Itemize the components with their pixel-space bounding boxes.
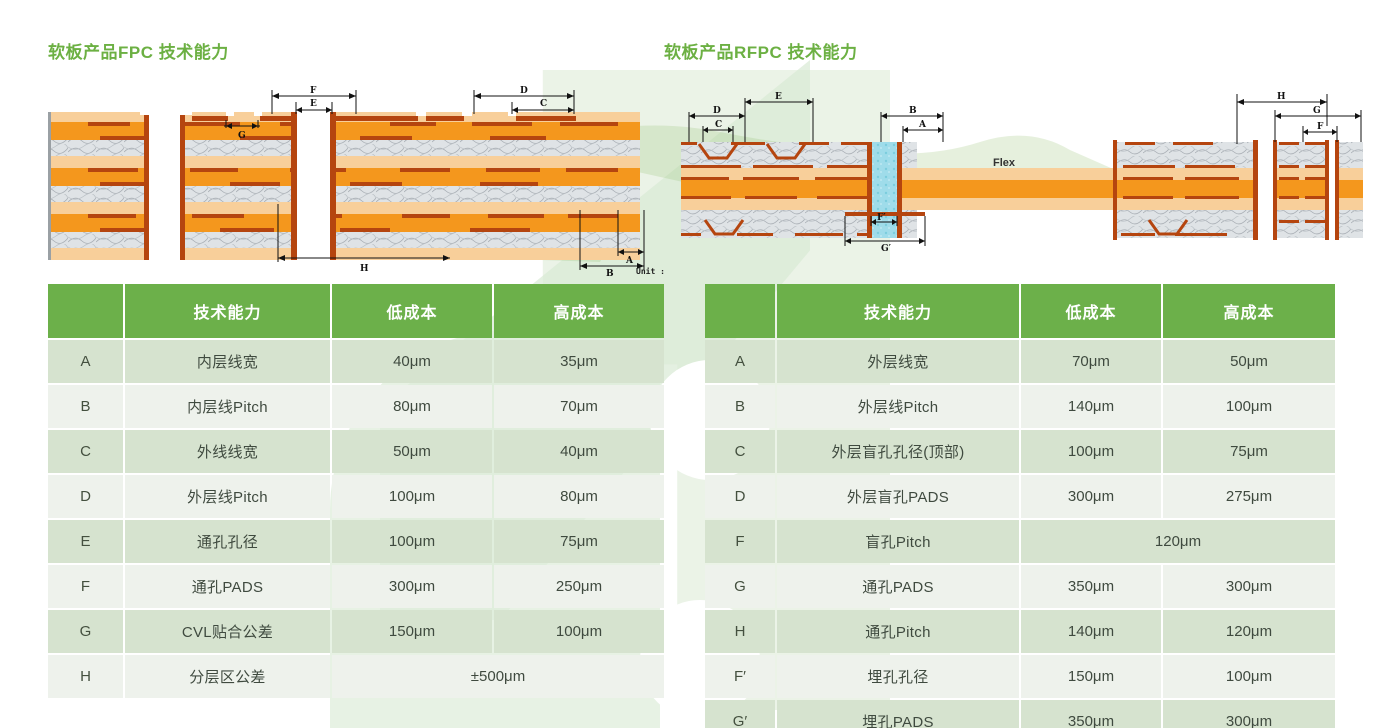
dim-label-b-right: B xyxy=(909,106,917,116)
table-header-row: 技术能力 低成本 高成本 xyxy=(48,284,664,338)
cell-low-cost: 350μm xyxy=(1021,565,1161,608)
cell-ref: C xyxy=(705,430,775,473)
cell-capability: 分层区公差 xyxy=(125,655,330,698)
cell-capability: 外线线宽 xyxy=(125,430,330,473)
cell-low-cost: 300μm xyxy=(332,565,492,608)
cell-low-cost: 140μm xyxy=(1021,385,1161,428)
dim-label-h-right: H xyxy=(1277,92,1286,102)
cell-ref: E xyxy=(48,520,123,563)
th-low-cost: 低成本 xyxy=(332,284,492,338)
cell-low-cost: 50μm xyxy=(332,430,492,473)
page-title-left: 软板产品FPC 技术能力 xyxy=(48,38,229,63)
cell-ref: D xyxy=(48,475,123,518)
table-row: A内层线宽40μm35μm xyxy=(48,340,664,383)
cell-low-cost: 350μm xyxy=(1021,700,1161,728)
dim-label-e-right: E xyxy=(775,92,782,102)
table-row: D外层盲孔PADS300μm275μm xyxy=(705,475,1335,518)
dim-label-f-prime: F′ xyxy=(877,213,886,223)
page-root: 软板产品FPC 技术能力 软板产品RFPC 技术能力 xyxy=(0,0,1400,728)
cell-high-cost: 70μm xyxy=(494,385,664,428)
cell-capability: 埋孔孔径 xyxy=(777,655,1019,698)
cell-high-cost: 250μm xyxy=(494,565,664,608)
cell-ref: B xyxy=(48,385,123,428)
cell-capability: 内层线Pitch xyxy=(125,385,330,428)
cell-capability: 外层线宽 xyxy=(777,340,1019,383)
cell-merged-value: ±500μm xyxy=(332,655,664,698)
cell-ref: H xyxy=(48,655,123,698)
cell-ref: G xyxy=(705,565,775,608)
cell-low-cost: 100μm xyxy=(1021,430,1161,473)
th-high-cost: 高成本 xyxy=(1163,284,1335,338)
dim-label-e: E xyxy=(310,99,317,109)
cell-capability: 外层盲孔PADS xyxy=(777,475,1019,518)
table-row: C外层盲孔孔径(顶部)100μm75μm xyxy=(705,430,1335,473)
cell-ref: G xyxy=(48,610,123,653)
cell-ref: B xyxy=(705,385,775,428)
table-row: C外线线宽50μm40μm xyxy=(48,430,664,473)
cell-ref: C xyxy=(48,430,123,473)
cell-ref: F xyxy=(48,565,123,608)
cell-ref: F′ xyxy=(705,655,775,698)
cell-high-cost: 80μm xyxy=(494,475,664,518)
table-row: E通孔孔径100μm75μm xyxy=(48,520,664,563)
table-row: F通孔PADS300μm250μm xyxy=(48,565,664,608)
cell-low-cost: 80μm xyxy=(332,385,492,428)
table-row: H分层区公差±500μm xyxy=(48,655,664,698)
th-capability: 技术能力 xyxy=(777,284,1019,338)
cell-low-cost: 140μm xyxy=(1021,610,1161,653)
table-row: H通孔Pitch140μm120μm xyxy=(705,610,1335,653)
dim-label-c-right: C xyxy=(715,120,722,130)
unit-note: Unit : xyxy=(636,266,665,276)
cell-ref: A xyxy=(48,340,123,383)
cell-high-cost: 275μm xyxy=(1163,475,1335,518)
cell-capability: 埋孔PADS xyxy=(777,700,1019,728)
cell-high-cost: 100μm xyxy=(1163,385,1335,428)
cell-capability: 通孔Pitch xyxy=(777,610,1019,653)
cell-high-cost: 100μm xyxy=(494,610,664,653)
dim-label-g-prime: G′ xyxy=(881,244,892,254)
cell-ref: G′ xyxy=(705,700,775,728)
table-row: G通孔PADS350μm300μm xyxy=(705,565,1335,608)
rfpc-capability-table: 技术能力 低成本 高成本 A外层线宽70μm50μmB外层线Pitch140μm… xyxy=(703,282,1337,728)
cell-capability: CVL贴合公差 xyxy=(125,610,330,653)
cell-capability: 外层线Pitch xyxy=(777,385,1019,428)
th-high-cost: 高成本 xyxy=(494,284,664,338)
dim-label-d-right: D xyxy=(713,106,721,116)
dim-label-g: G xyxy=(238,131,246,141)
cell-capability: 盲孔Pitch xyxy=(777,520,1019,563)
cell-capability: 通孔PADS xyxy=(777,565,1019,608)
dim-label-f: F xyxy=(310,86,317,96)
cell-high-cost: 300μm xyxy=(1163,565,1335,608)
cell-high-cost: 300μm xyxy=(1163,700,1335,728)
dim-label-f-right: F xyxy=(1317,122,1324,132)
dim-label-a: A xyxy=(625,256,634,266)
cell-high-cost: 40μm xyxy=(494,430,664,473)
table-row: A外层线宽70μm50μm xyxy=(705,340,1335,383)
cell-low-cost: 300μm xyxy=(1021,475,1161,518)
flex-label: Flex xyxy=(993,157,1016,169)
cell-ref: H xyxy=(705,610,775,653)
cell-ref: D xyxy=(705,475,775,518)
cell-high-cost: 75μm xyxy=(1163,430,1335,473)
page-title-right: 软板产品RFPC 技术能力 xyxy=(664,38,858,63)
fpc-capability-table: 技术能力 低成本 高成本 A内层线宽40μm35μmB内层线Pitch80μm7… xyxy=(46,282,666,700)
cell-high-cost: 120μm xyxy=(1163,610,1335,653)
cell-high-cost: 35μm xyxy=(494,340,664,383)
cell-low-cost: 40μm xyxy=(332,340,492,383)
cell-capability: 内层线宽 xyxy=(125,340,330,383)
th-capability: 技术能力 xyxy=(125,284,330,338)
cell-merged-value: 120μm xyxy=(1021,520,1335,563)
table-row: D外层线Pitch100μm80μm xyxy=(48,475,664,518)
th-ref xyxy=(705,284,775,338)
dim-label-g-right: G xyxy=(1313,106,1321,116)
cell-low-cost: 100μm xyxy=(332,475,492,518)
dim-label-d: D xyxy=(520,86,528,96)
table-row: F′埋孔孔径150μm100μm xyxy=(705,655,1335,698)
cell-high-cost: 50μm xyxy=(1163,340,1335,383)
dim-label-b: B xyxy=(606,269,614,276)
cell-ref: F xyxy=(705,520,775,563)
table-header-row: 技术能力 低成本 高成本 xyxy=(705,284,1335,338)
cell-low-cost: 100μm xyxy=(332,520,492,563)
table-row: B外层线Pitch140μm100μm xyxy=(705,385,1335,428)
table-row: G′埋孔PADS350μm300μm xyxy=(705,700,1335,728)
fpc-cross-section-diagram: G F E D C A B H Unit : xyxy=(40,84,665,276)
cell-ref: A xyxy=(705,340,775,383)
cell-low-cost: 150μm xyxy=(1021,655,1161,698)
cell-high-cost: 75μm xyxy=(494,520,664,563)
th-ref xyxy=(48,284,123,338)
table-row: B内层线Pitch80μm70μm xyxy=(48,385,664,428)
dim-label-h: H xyxy=(360,264,369,274)
dim-label-a-right: A xyxy=(918,120,927,130)
rfpc-cross-section-diagram: Flex xyxy=(675,86,1365,276)
th-low-cost: 低成本 xyxy=(1021,284,1161,338)
cell-capability: 通孔PADS xyxy=(125,565,330,608)
cell-capability: 外层盲孔孔径(顶部) xyxy=(777,430,1019,473)
dim-label-c: C xyxy=(540,99,547,109)
cell-high-cost: 100μm xyxy=(1163,655,1335,698)
table-row: GCVL贴合公差150μm100μm xyxy=(48,610,664,653)
cell-capability: 外层线Pitch xyxy=(125,475,330,518)
cell-capability: 通孔孔径 xyxy=(125,520,330,563)
cell-low-cost: 70μm xyxy=(1021,340,1161,383)
table-row: F盲孔Pitch120μm xyxy=(705,520,1335,563)
cell-low-cost: 150μm xyxy=(332,610,492,653)
